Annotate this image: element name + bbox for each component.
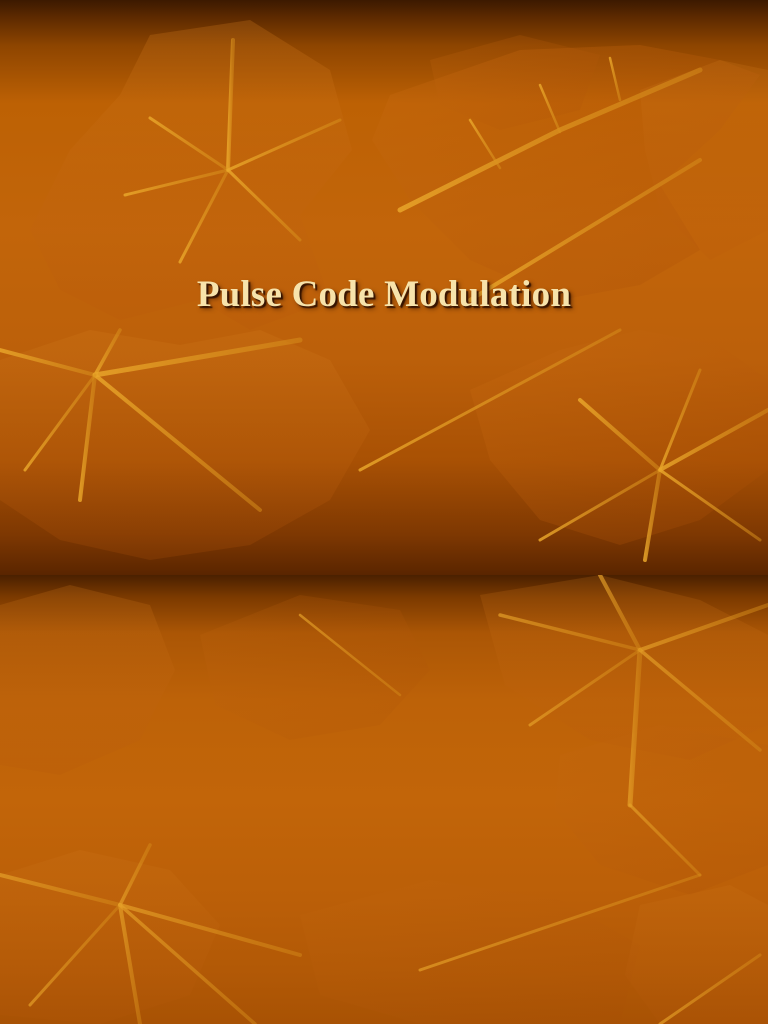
slide-2-leaf-decoration bbox=[0, 575, 768, 1024]
slide-1-title: Pulse Code Modulation bbox=[0, 273, 768, 316]
presentation-deck: Pulse Code Modulation bbox=[0, 0, 768, 1024]
slide-1: Pulse Code Modulation bbox=[0, 0, 768, 575]
slide-2: Pulse Code Modulation (PCM) Analog voice… bbox=[0, 575, 768, 1024]
